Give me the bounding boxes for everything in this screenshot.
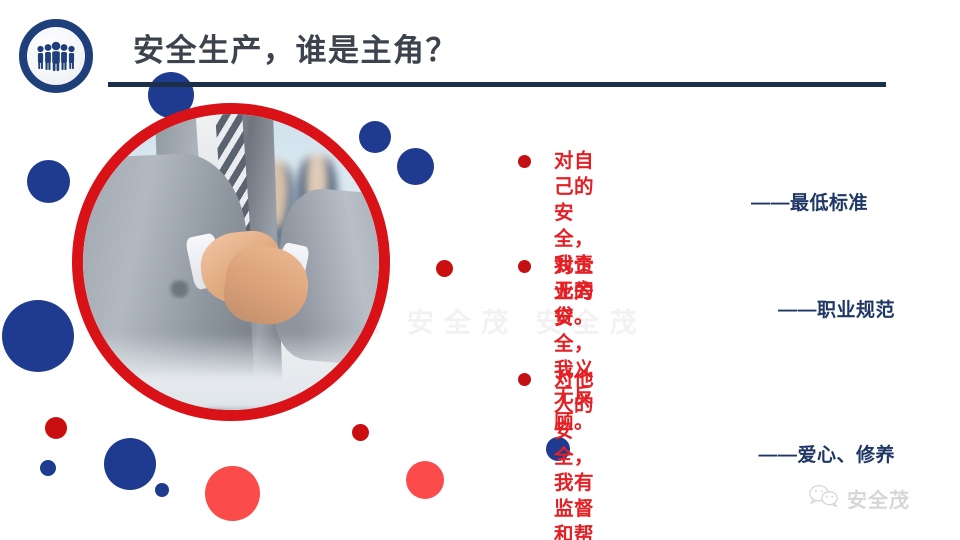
bullet-list: 对自己的安全，我责无旁贷。——最低标准对企业的安全，我义无反顾。——职业规范对他… (0, 0, 960, 540)
bullet-dot-icon (518, 155, 531, 168)
bullet-attribution: ——职业规范 (778, 295, 895, 322)
wechat-icon (808, 484, 840, 513)
wechat-account-name: 安全茂 (847, 484, 910, 513)
wechat-account-logo: 安全茂 (808, 484, 910, 513)
bullet-attribution: ——最低标准 (751, 188, 868, 215)
bullet-attribution: ——爱心、修养 (758, 440, 895, 467)
bullet-dot-icon (518, 260, 531, 273)
bullet-dot-icon (518, 373, 531, 386)
bullet-text: 对他人的安全，我有监督和帮助的 责任；我有提醒和制止的义务。 (554, 366, 594, 540)
slide-canvas: 安全茂 安全茂 安全茂 安全茂 (0, 0, 960, 540)
